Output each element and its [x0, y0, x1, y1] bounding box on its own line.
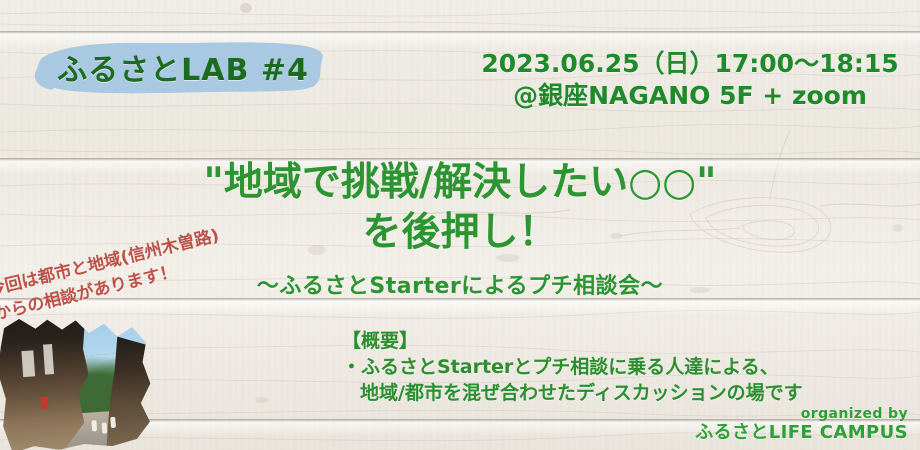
overview-bullet-line-2: 地域/都市を混ぜ合わせたディスカッションの場です: [342, 380, 902, 406]
event-schedule: 2023.06.25（日）17:00〜18:15 @銀座NAGANO 5F + …: [480, 48, 900, 111]
photo-red-accent: [40, 396, 48, 408]
photo-pedestrian: [110, 417, 116, 428]
photo-shop-sign: [21, 351, 35, 378]
badge-label: ふるさとLAB #4: [30, 36, 330, 98]
event-series-badge: ふるさとLAB #4: [30, 36, 330, 98]
event-venue: @銀座NAGANO 5F + zoom: [480, 80, 900, 112]
overview-heading: 【概要】: [342, 328, 902, 354]
photo-pedestrian: [101, 422, 107, 433]
headline-line-1: "地域で挑戦/解決したい○○": [110, 158, 810, 208]
organizer-credit: organized by ふるさとLIFE CAMPUS: [695, 406, 908, 444]
overview-section: 【概要】 ・ふるさとStarterとプチ相談に乗る人達による、 地域/都市を混ぜ…: [342, 328, 902, 407]
poster-subtitle: 〜ふるさとStarterによるプチ相談会〜: [180, 268, 740, 300]
organizer-credit-prefix: organized by: [695, 406, 908, 423]
organizer-name: ふるさとLIFE CAMPUS: [695, 422, 908, 444]
overview-bullet-line-1: ・ふるさとStarterとプチ相談に乗る人達による、: [342, 354, 902, 380]
event-datetime: 2023.06.25（日）17:00〜18:15: [480, 48, 900, 80]
event-poster: ふるさとLAB #4 2023.06.25（日）17:00〜18:15 @銀座N…: [0, 0, 920, 450]
photo-building-left: [0, 307, 94, 450]
plank-highlight: [0, 301, 920, 315]
